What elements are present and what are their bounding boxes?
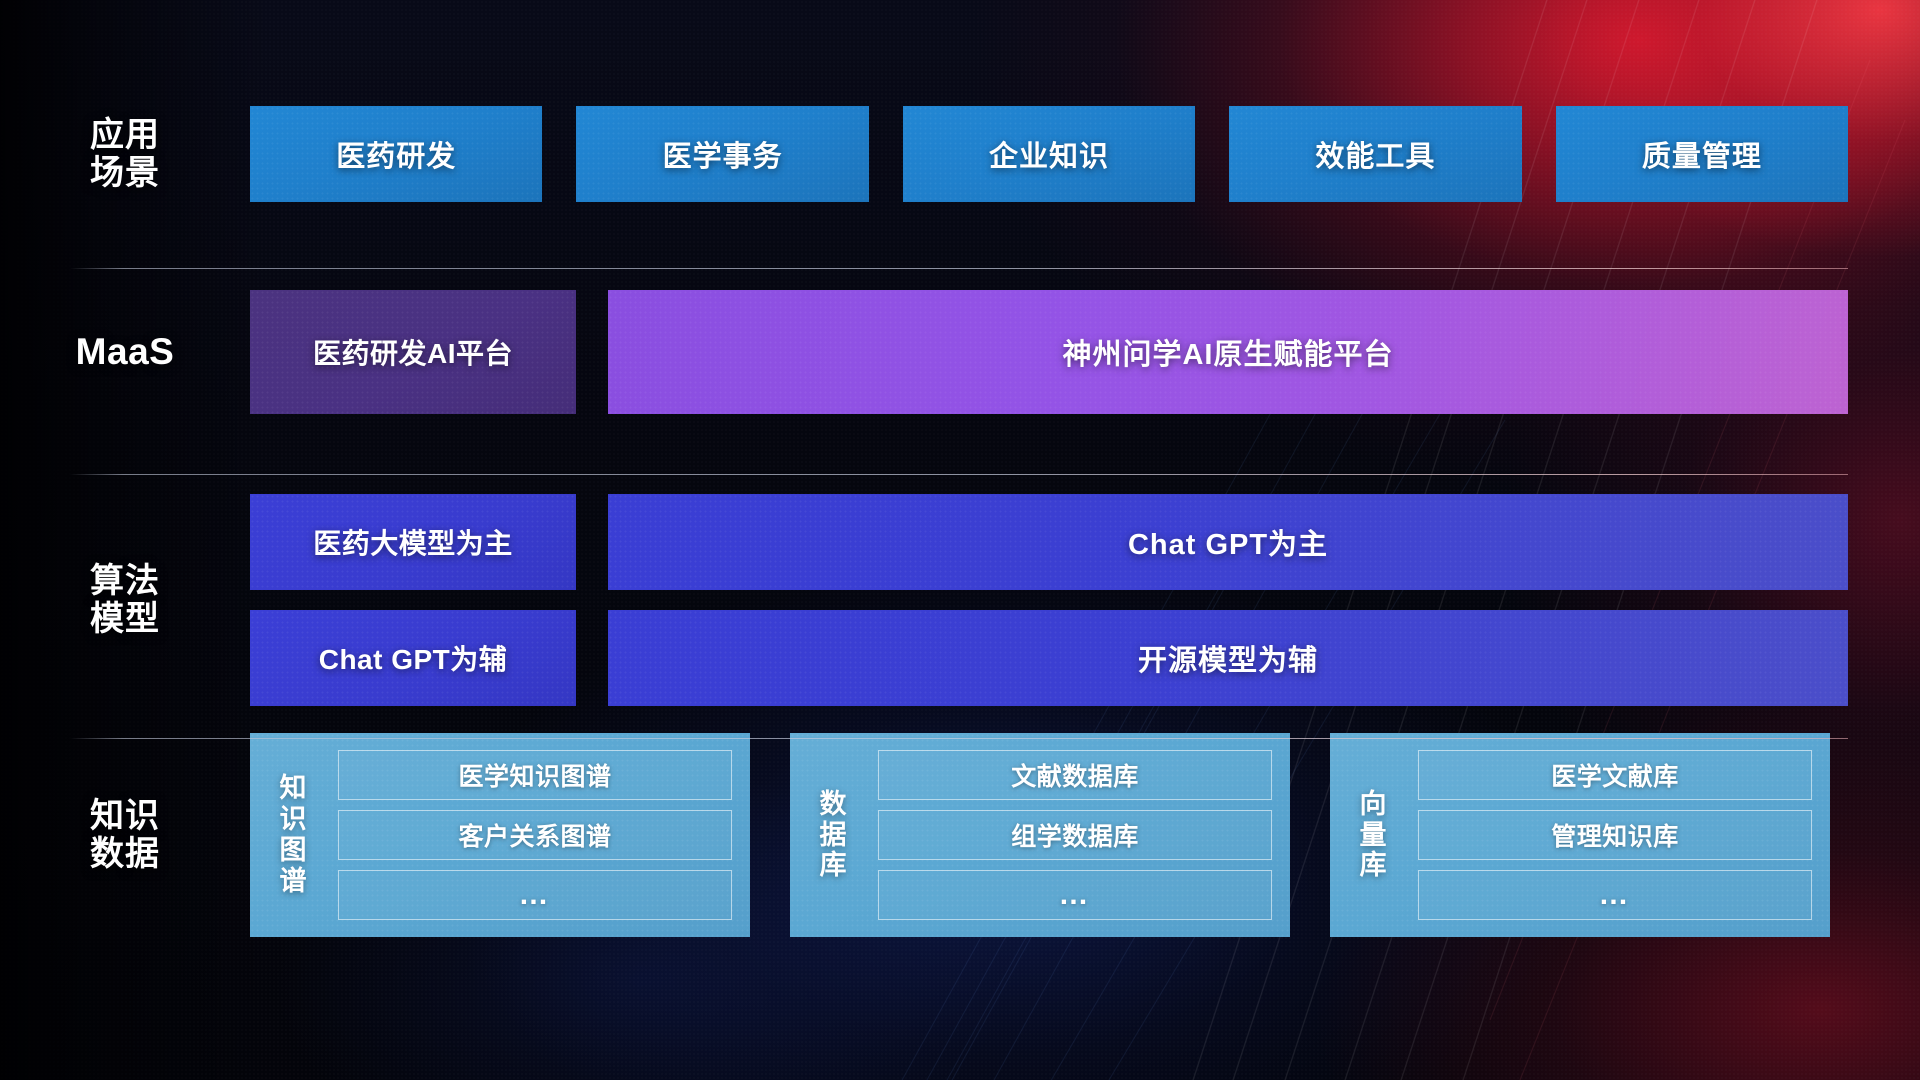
diagram-canvas: 应用 场景 医药研发 医学事务 企业知识 效能工具 质量管理 bbox=[0, 0, 1920, 1080]
row-label-line: 应用 bbox=[90, 116, 160, 154]
row-label-algorithm-models: 算法 模型 bbox=[0, 562, 250, 638]
row-knowledge-data: 知识 数据 知 识 图 谱 医学知识图谱 客户关系图谱 … bbox=[0, 733, 1920, 937]
maas-card-label: 神州问学AI原生赋能平台 bbox=[1062, 331, 1393, 373]
knowledge-panel-title-char: 库 bbox=[796, 850, 870, 881]
knowledge-item[interactable]: 客户关系图谱 bbox=[338, 810, 732, 860]
knowledge-item-more[interactable]: … bbox=[878, 870, 1272, 920]
divider-after-application-scenarios bbox=[70, 268, 1848, 269]
knowledge-item-more[interactable]: … bbox=[338, 870, 732, 920]
knowledge-panel-title-char: 量 bbox=[1336, 820, 1410, 851]
knowledge-panel-title-char: 向 bbox=[1336, 789, 1410, 820]
maas-card-label: 医药研发AI平台 bbox=[313, 332, 513, 372]
knowledge-panel-title-char: 数 bbox=[796, 789, 870, 820]
model-card-label: Chat GPT为主 bbox=[1128, 521, 1328, 563]
knowledge-panel-database[interactable]: 数 据 库 文献数据库 组学数据库 … bbox=[790, 733, 1290, 937]
knowledge-panel-title-char: 识 bbox=[256, 804, 330, 835]
scenario-card-medicine-rd[interactable]: 医药研发 bbox=[250, 106, 542, 202]
row-application-scenarios: 应用 场景 医药研发 医学事务 企业知识 效能工具 质量管理 bbox=[0, 106, 1920, 202]
maas-card-shenzhou-platform[interactable]: 神州问学AI原生赋能平台 bbox=[608, 290, 1848, 414]
maas-card-pharma-ai-platform[interactable]: 医药研发AI平台 bbox=[250, 290, 576, 414]
model-card-label: 开源模型为辅 bbox=[1138, 637, 1318, 679]
scenario-card-efficiency-tools[interactable]: 效能工具 bbox=[1229, 106, 1521, 202]
model-card-label: 医药大模型为主 bbox=[313, 522, 513, 562]
row-label-line: 场景 bbox=[90, 154, 160, 192]
knowledge-item[interactable]: 文献数据库 bbox=[878, 750, 1272, 800]
scenario-card-label: 效能工具 bbox=[1315, 133, 1435, 175]
knowledge-panel-title: 数 据 库 bbox=[790, 789, 870, 881]
scenario-card-medical-affairs[interactable]: 医学事务 bbox=[576, 106, 868, 202]
scenario-card-label: 医学事务 bbox=[663, 133, 783, 175]
knowledge-panel-vector-store[interactable]: 向 量 库 医学文献库 管理知识库 … bbox=[1330, 733, 1830, 937]
knowledge-item[interactable]: 组学数据库 bbox=[878, 810, 1272, 860]
scenario-card-label: 质量管理 bbox=[1642, 133, 1762, 175]
row-label-maas: MaaS bbox=[0, 331, 250, 372]
row-label-line: 模型 bbox=[90, 600, 160, 638]
divider-after-maas bbox=[70, 474, 1848, 475]
knowledge-panel-items: 医学知识图谱 客户关系图谱 … bbox=[330, 750, 750, 920]
knowledge-panel-title-char: 图 bbox=[256, 835, 330, 866]
knowledge-item[interactable]: 管理知识库 bbox=[1418, 810, 1812, 860]
row-cells: 知 识 图 谱 医学知识图谱 客户关系图谱 … 数 据 bbox=[250, 733, 1920, 937]
scenario-card-quality-management[interactable]: 质量管理 bbox=[1556, 106, 1848, 202]
knowledge-panel-title-char: 谱 bbox=[256, 866, 330, 897]
divider-after-algorithm-models bbox=[70, 738, 1848, 739]
knowledge-panel-items: 文献数据库 组学数据库 … bbox=[870, 750, 1290, 920]
knowledge-panel-title-char: 据 bbox=[796, 820, 870, 851]
knowledge-item[interactable]: 医学文献库 bbox=[1418, 750, 1812, 800]
scenario-card-enterprise-knowledge[interactable]: 企业知识 bbox=[903, 106, 1195, 202]
knowledge-panel-title-char: 库 bbox=[1336, 850, 1410, 881]
row-label-line: 数据 bbox=[90, 835, 160, 873]
knowledge-panel-knowledge-graph[interactable]: 知 识 图 谱 医学知识图谱 客户关系图谱 … bbox=[250, 733, 750, 937]
knowledge-panel-items: 医学文献库 管理知识库 … bbox=[1410, 750, 1830, 920]
row-label-line: 算法 bbox=[90, 562, 160, 600]
knowledge-panel-title-char: 知 bbox=[256, 773, 330, 804]
knowledge-item-more[interactable]: … bbox=[1418, 870, 1812, 920]
row-label-line: MaaS bbox=[76, 331, 175, 372]
model-card-label: Chat GPT为辅 bbox=[319, 638, 508, 678]
row-label-algorithm-models-wrap: 算法 模型 bbox=[0, 494, 1920, 706]
row-label-application-scenarios: 应用 场景 bbox=[0, 116, 250, 192]
row-cells: 医药研发AI平台 神州问学AI原生赋能平台 bbox=[250, 290, 1920, 414]
row-label-line: 知识 bbox=[90, 797, 160, 835]
row-maas: MaaS 医药研发AI平台 神州问学AI原生赋能平台 bbox=[0, 290, 1920, 414]
scenario-card-label: 医药研发 bbox=[336, 133, 456, 175]
knowledge-item[interactable]: 医学知识图谱 bbox=[338, 750, 732, 800]
row-label-knowledge-data: 知识 数据 bbox=[0, 797, 250, 873]
scenario-card-label: 企业知识 bbox=[989, 133, 1109, 175]
row-cells: 医药研发 医学事务 企业知识 效能工具 质量管理 bbox=[250, 106, 1920, 202]
knowledge-panel-title: 向 量 库 bbox=[1330, 789, 1410, 881]
knowledge-panel-title: 知 识 图 谱 bbox=[250, 773, 330, 896]
